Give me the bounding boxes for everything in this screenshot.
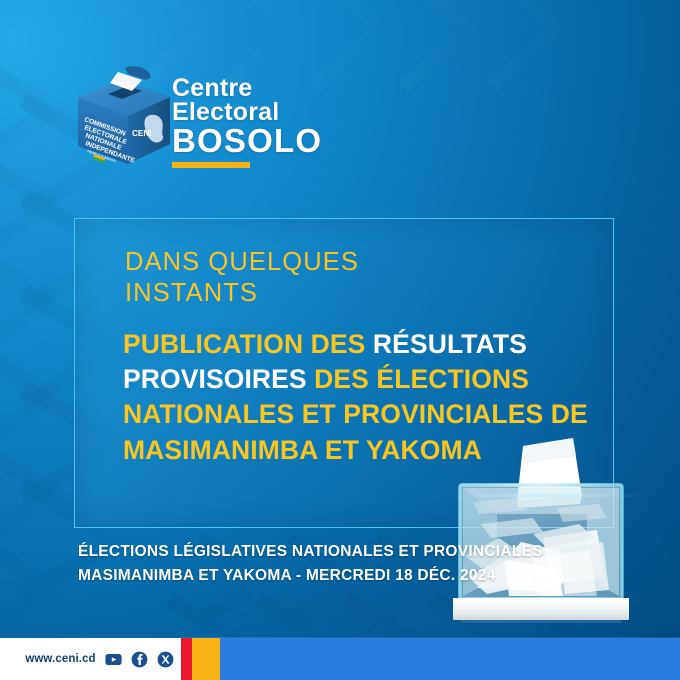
event-caption: ÉLECTIONS LÉGISLATIVES NATIONALES ET PRO…: [78, 540, 543, 589]
website-url[interactable]: www.ceni.cd: [25, 653, 95, 665]
announcement-kicker: DANS QUELQUES INSTANTS: [125, 247, 359, 309]
youtube-icon[interactable]: [105, 651, 122, 668]
brand-underline-bar: [172, 162, 250, 168]
kicker-line-1: DANS QUELQUES: [125, 247, 359, 278]
brand-wordmark: Centre Electoral BOSOLO: [172, 76, 362, 168]
footer-swatch-yellow: [192, 638, 220, 680]
logo-acronym-ceni: CENI: [132, 129, 152, 138]
brand-header: COMMISSION ELECTORALE NATIONALE INDEPEND…: [62, 58, 362, 178]
brand-line-electoral: Electoral: [172, 100, 362, 124]
caption-line-2: MASIMANIMBA ET YAKOMA - MERCREDI 18 DÉC.…: [78, 564, 543, 588]
brand-line-bosolo: BOSOLO: [172, 125, 362, 157]
brand-line-centre: Centre: [172, 76, 362, 100]
ceni-ballot-box-logo-icon: COMMISSION ELECTORALE NATIONALE INDEPEND…: [70, 66, 178, 174]
caption-line-1: ÉLECTIONS LÉGISLATIVES NATIONALES ET PRO…: [78, 540, 543, 564]
x-twitter-icon[interactable]: [157, 651, 174, 668]
poster-canvas: COMMISSION ELECTORALE NATIONALE INDEPEND…: [0, 0, 680, 680]
facebook-icon[interactable]: [131, 651, 148, 668]
footer-swatch-blue: [220, 638, 680, 680]
footer-bar: www.ceni.cd: [0, 638, 680, 680]
glass-ballot-box-illustration: [447, 438, 643, 623]
footer-swatch-red: [181, 638, 192, 680]
kicker-line-2: INSTANTS: [125, 278, 359, 309]
headline-segment-1: PUBLICATION DES: [123, 329, 373, 359]
footer-contact-block: www.ceni.cd: [0, 638, 181, 680]
